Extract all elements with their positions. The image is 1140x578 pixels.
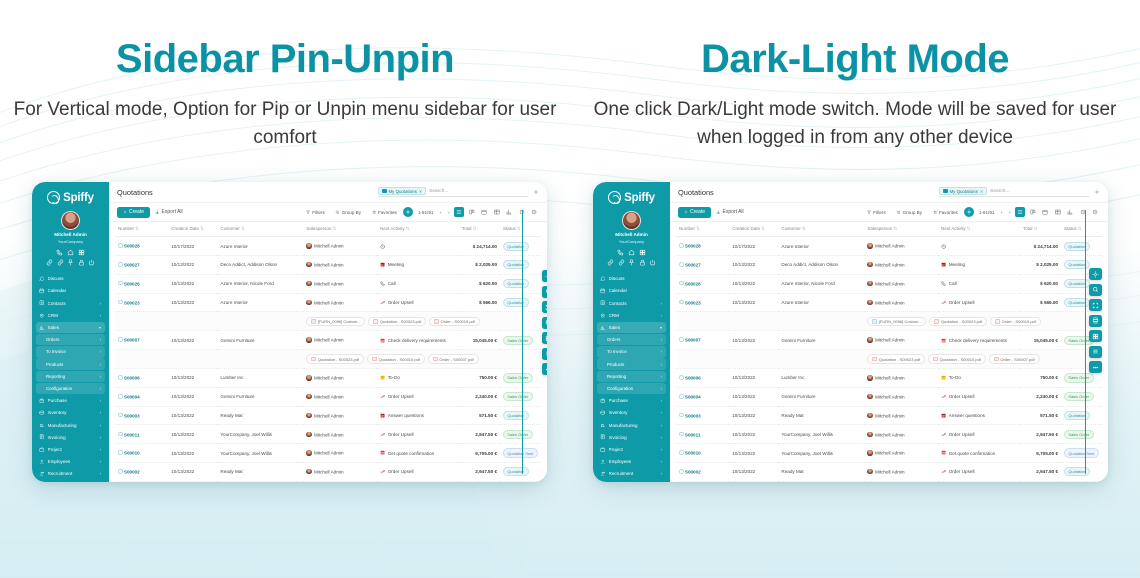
chevron-right-icon[interactable]: › xyxy=(100,386,101,391)
call-icon[interactable] xyxy=(617,249,624,256)
sidebar-item-crm[interactable]: CRM › xyxy=(36,310,105,321)
sidebar-item-contacts[interactable]: Contacts › xyxy=(597,297,666,308)
cell-total: $ 566.00 xyxy=(459,293,500,312)
row-checkbox[interactable] xyxy=(118,394,123,399)
pin-icon[interactable] xyxy=(67,259,74,266)
cell-number[interactable]: S00011 xyxy=(676,425,729,444)
sidebar-item-label: Sales xyxy=(48,325,96,330)
cell-status: Sales Order xyxy=(500,369,541,388)
cell-number[interactable]: S00023 xyxy=(676,293,729,312)
pager-next-button[interactable]: › xyxy=(1007,210,1013,215)
table-row[interactable]: S00026 10/13/2022 Azure Interior, Nicole… xyxy=(115,274,541,293)
status-badge: Quotation xyxy=(503,298,529,307)
sidebar-item-reporting[interactable]: Reporting › xyxy=(36,371,105,382)
pager-prev-button[interactable]: ‹ xyxy=(438,210,444,215)
attachment-chip[interactable]: Quotation - S00010.pdf xyxy=(367,354,425,363)
column-header-number[interactable]: Number⇅ xyxy=(115,222,168,237)
column-header-customer[interactable]: Customer⇅ xyxy=(778,222,864,237)
column-header-creation date[interactable]: Creation Date⇅ xyxy=(729,222,778,237)
chevron-right-icon[interactable]: › xyxy=(100,435,101,440)
table-row[interactable]: S00011 10/13/2022 YourCompany, Joel Will… xyxy=(676,425,1102,444)
chevron-right-icon[interactable]: › xyxy=(661,423,662,428)
chevron-right-icon[interactable]: › xyxy=(661,386,662,391)
chevron-right-icon[interactable]: › xyxy=(100,471,101,476)
sidebar-item-employees[interactable]: Employees › xyxy=(36,456,105,467)
sidebar-item-label: Project xyxy=(48,447,97,452)
print-rail-icon[interactable] xyxy=(1089,315,1102,327)
chevron-down-icon[interactable]: ▾ xyxy=(99,325,101,330)
grid-rail-icon[interactable] xyxy=(542,332,547,344)
chevron-right-icon[interactable]: › xyxy=(661,301,662,306)
row-checkbox[interactable] xyxy=(679,281,684,286)
column-header-customer[interactable]: Customer⇅ xyxy=(217,222,303,237)
chevron-right-icon[interactable]: › xyxy=(100,459,101,464)
reload-button[interactable] xyxy=(403,207,413,217)
link-alt-icon[interactable] xyxy=(618,259,625,266)
sidebar-item-recruitment[interactable]: Recruitment › xyxy=(597,468,666,479)
table-row[interactable]: S00026 10/13/2022 Azure Interior, Nicole… xyxy=(676,274,1102,293)
sidebar-item-products[interactable]: Products › xyxy=(36,358,105,369)
row-checkbox[interactable] xyxy=(679,413,684,418)
graph-view-icon[interactable] xyxy=(1065,207,1075,217)
app-logo[interactable]: Spiffy xyxy=(32,191,109,204)
home-icon[interactable] xyxy=(67,249,74,256)
table-row[interactable]: S00007 10/13/2022 Gemini Furniture Mitch… xyxy=(676,331,1102,350)
attachment-chip[interactable]: [FURN_0096] Custom... xyxy=(867,317,926,326)
cell-customer: Azure Interior, Nicole Ford xyxy=(778,274,864,293)
column-header-next activity[interactable]: Next Activity⇅ xyxy=(938,222,1020,237)
table-row[interactable]: S00007 10/13/2022 Gemini Furniture Mitch… xyxy=(115,331,541,350)
attachment-chip[interactable]: Order - S00007.pdf xyxy=(428,354,479,363)
table-row[interactable]: S00028 10/17/2022 Azure Interior Mitchel… xyxy=(676,237,1102,256)
row-checkbox[interactable] xyxy=(118,432,123,437)
cell-number[interactable]: S00010 xyxy=(115,444,168,463)
kanban-view-icon[interactable] xyxy=(1028,207,1038,217)
gear-icon[interactable] xyxy=(1094,189,1100,195)
group-by-button[interactable]: Group By xyxy=(892,207,926,217)
sidebar-item-discuss[interactable]: Discuss xyxy=(36,273,105,284)
cell-total: $ 620.00 xyxy=(459,274,500,293)
cell-number[interactable]: S00026 xyxy=(115,274,168,293)
table-row[interactable]: S00004 10/13/2022 Gemini Furniture Mitch… xyxy=(115,387,541,406)
calendar-view-icon[interactable] xyxy=(479,207,489,217)
table-row[interactable]: S00028 10/17/2022 Azure Interior Mitchel… xyxy=(115,237,541,256)
attachment-chip[interactable]: [FURN_0096] Custom... xyxy=(306,317,365,326)
attachment-chip[interactable]: Quotation - S00023.pdf xyxy=(929,317,987,326)
column-header-status[interactable]: Status⇅ xyxy=(500,222,541,237)
chevron-right-icon[interactable]: › xyxy=(661,374,662,379)
sidebar-menu: Discuss Calendar Contacts › CRM › Sales … xyxy=(32,273,109,482)
sidebar-item-label: To Invoice xyxy=(607,349,658,354)
cell-total: 15,045.00 € xyxy=(1020,331,1061,350)
cell-total: 2,947.50 € xyxy=(1020,462,1061,481)
sidebar-item-orders[interactable]: Orders › xyxy=(597,334,666,345)
row-checkbox[interactable] xyxy=(118,469,123,474)
cell-number[interactable]: S00007 xyxy=(676,331,729,350)
user-company: YourCompany xyxy=(32,239,109,245)
graph-view-icon[interactable] xyxy=(504,207,514,217)
sidebar-item-configuration[interactable]: Configuration › xyxy=(597,383,666,394)
attachment-chip[interactable]: Order - S00019.pdf xyxy=(429,317,480,326)
quotations-table-wrapper[interactable]: Number⇅Creation Date⇅Customer⇅Salesperso… xyxy=(670,222,1108,482)
column-header-next activity[interactable]: Next Activity⇅ xyxy=(377,222,459,237)
row-checkbox[interactable] xyxy=(118,300,123,305)
table-row[interactable]: S00023 10/13/2022 Azure Interior Mitchel… xyxy=(676,293,1102,312)
row-checkbox[interactable] xyxy=(679,432,684,437)
sidebar-item-sales[interactable]: Sales ▾ xyxy=(597,322,666,333)
list-rail-icon[interactable] xyxy=(542,348,547,360)
close-icon[interactable]: ✕ xyxy=(980,189,983,194)
cell-customer: Azure Interior xyxy=(217,237,303,256)
home-icon[interactable] xyxy=(628,249,635,256)
column-header-number[interactable]: Number⇅ xyxy=(676,222,729,237)
app-logo[interactable]: Spiffy xyxy=(593,191,670,204)
chevron-right-icon[interactable]: › xyxy=(661,349,662,354)
pivot-view-icon[interactable] xyxy=(1053,207,1063,217)
status-badge: Quotation Sent xyxy=(503,448,538,457)
cell-status: Quotation xyxy=(500,274,541,293)
cell-total: 2,947.50 € xyxy=(1020,425,1061,444)
app-main: Quotations My Quotations✕ Search... Crea… xyxy=(670,182,1108,482)
sidebar-item-to invoice[interactable]: To Invoice › xyxy=(36,346,105,357)
more-rail-icon[interactable] xyxy=(542,363,547,375)
list-rail-icon[interactable] xyxy=(1089,346,1102,358)
cell-customer: Gemini Furniture xyxy=(778,387,864,406)
sidebar-item-project[interactable]: Project › xyxy=(36,444,105,455)
chevron-right-icon[interactable]: › xyxy=(100,349,101,354)
list-view-icon[interactable] xyxy=(1015,207,1025,217)
attachment-chip[interactable]: Quotation - S00023.pdf xyxy=(306,354,364,363)
sidebar-item-orders[interactable]: Orders › xyxy=(36,334,105,345)
column-header-status[interactable]: Status⇅ xyxy=(1061,222,1102,237)
search-input[interactable]: My Quotations✕ Search... xyxy=(378,187,528,197)
search-facet[interactable]: My Quotations✕ xyxy=(378,187,426,195)
row-checkbox[interactable] xyxy=(679,375,684,380)
search-facet[interactable]: My Quotations✕ xyxy=(939,187,987,195)
action-bar: Create Export All Filters Group By Favor… xyxy=(109,203,547,222)
expand-rail-icon[interactable] xyxy=(542,301,547,313)
cell-total: $ 2,025.00 xyxy=(459,256,500,275)
cell-number[interactable]: S00007 xyxy=(115,331,168,350)
sidebar-item-project[interactable]: Project › xyxy=(597,444,666,455)
calendar-view-icon[interactable] xyxy=(1040,207,1050,217)
power-icon[interactable] xyxy=(649,259,656,266)
cell-next-activity: Meeting xyxy=(938,256,1020,275)
table-row[interactable]: S00002 10/13/2022 Ready Mat Mitchell Adm… xyxy=(115,462,541,481)
sidebar-item-apps[interactable]: Apps › xyxy=(597,480,666,482)
cell-next-activity: Call xyxy=(377,274,459,293)
export-all-button[interactable]: Export All xyxy=(711,207,749,218)
employees-icon xyxy=(39,459,45,465)
cell-customer: Lumber Inc xyxy=(217,369,303,388)
sidebar-item-calendar[interactable]: Calendar xyxy=(36,285,105,296)
cell-number[interactable]: S00006 xyxy=(676,369,729,388)
cell-total: 2,947.50 € xyxy=(459,425,500,444)
table-row[interactable]: S00027 10/13/2022 Deco Addict, Addison O… xyxy=(115,256,541,275)
search-rail-icon[interactable] xyxy=(542,286,547,298)
chevron-right-icon[interactable]: › xyxy=(661,313,662,318)
table-row[interactable]: S00003 10/13/2022 Ready Mat Mitchell Adm… xyxy=(115,406,541,425)
sidebar-item-to invoice[interactable]: To Invoice › xyxy=(597,346,666,357)
cell-status: Quotation xyxy=(500,237,541,256)
chevron-right-icon[interactable]: › xyxy=(661,459,662,464)
chevron-right-icon[interactable]: › xyxy=(100,337,101,342)
cell-creation-date: 10/13/2022 xyxy=(729,274,778,293)
crm-icon xyxy=(600,313,606,319)
cell-number[interactable]: S00028 xyxy=(676,237,729,256)
grid-icon[interactable] xyxy=(639,249,646,256)
salesperson-avatar xyxy=(306,262,311,267)
cell-number[interactable]: S00003 xyxy=(676,406,729,425)
sidebar-item-inventory[interactable]: Inventory › xyxy=(597,407,666,418)
cell-number[interactable]: S00027 xyxy=(115,256,168,275)
print-rail-icon[interactable] xyxy=(542,317,547,329)
cell-total: $ 2,025.00 xyxy=(1020,256,1061,275)
group-by-button[interactable]: Group By xyxy=(331,207,365,217)
column-header-creation date[interactable]: Creation Date⇅ xyxy=(168,222,217,237)
project-icon xyxy=(39,447,45,453)
column-header-salesperson[interactable]: Salesperson⇅ xyxy=(303,222,377,237)
sidebar-item-sales[interactable]: Sales ▾ xyxy=(36,322,105,333)
favorites-button[interactable]: Favorites xyxy=(929,207,962,217)
column-header-total[interactable]: Total⇅ xyxy=(1020,222,1061,237)
cell-total: $ 620.00 xyxy=(1020,274,1061,293)
column-header-total[interactable]: Total⇅ xyxy=(459,222,500,237)
cell-total: 750.00 € xyxy=(1020,369,1061,388)
attachment-row: [FURN_0096] Custom...Quotation - S00023.… xyxy=(676,312,1102,331)
settings-rail-icon[interactable] xyxy=(1089,268,1102,280)
status-badge: Sales Order xyxy=(503,430,533,439)
sidebar-item-invoicing[interactable]: Invoicing › xyxy=(597,432,666,443)
table-body: S00028 10/17/2022 Azure Interior Mitchel… xyxy=(676,237,1102,483)
chevron-right-icon[interactable]: › xyxy=(100,313,101,318)
row-checkbox[interactable] xyxy=(679,262,684,267)
chat-icon xyxy=(39,276,45,282)
cell-number[interactable]: S00023 xyxy=(115,293,168,312)
cell-salesperson: Mitchell Admin xyxy=(303,425,377,444)
refresh-icon[interactable] xyxy=(1090,207,1100,217)
table-row[interactable]: S00004 10/13/2022 Gemini Furniture Mitch… xyxy=(676,387,1102,406)
table-row[interactable]: S00023 10/13/2022 Azure Interior Mitchel… xyxy=(115,293,541,312)
call-icon[interactable] xyxy=(56,249,63,256)
row-checkbox[interactable] xyxy=(679,243,684,248)
chevron-right-icon[interactable]: › xyxy=(661,447,662,452)
sidebar-item-crm[interactable]: CRM › xyxy=(597,310,666,321)
cell-next-activity xyxy=(938,237,1020,256)
sidebar-item-label: Products xyxy=(46,362,97,367)
attachment-chip[interactable]: Quotation - S00010.pdf xyxy=(928,354,986,363)
pin-icon[interactable] xyxy=(628,259,635,266)
row-checkbox[interactable] xyxy=(679,469,684,474)
avatar[interactable] xyxy=(622,211,641,230)
chevron-right-icon[interactable]: › xyxy=(661,398,662,403)
table-row[interactable]: S00006 10/13/2022 Lumber Inc Mitchell Ad… xyxy=(115,369,541,388)
pivot-view-icon[interactable] xyxy=(492,207,502,217)
sidebar-item-configuration[interactable]: Configuration › xyxy=(36,383,105,394)
chevron-right-icon[interactable]: › xyxy=(100,362,101,367)
cell-number[interactable]: S00004 xyxy=(115,387,168,406)
row-checkbox[interactable] xyxy=(679,300,684,305)
sidebar-item-manufacturing[interactable]: Manufacturing › xyxy=(36,419,105,430)
row-checkbox[interactable] xyxy=(118,337,123,342)
row-checkbox[interactable] xyxy=(118,243,123,248)
kanban-view-icon[interactable] xyxy=(467,207,477,217)
lock-icon[interactable] xyxy=(639,259,646,266)
cell-salesperson: Mitchell Admin xyxy=(303,293,377,312)
upsell-icon xyxy=(941,432,946,437)
sidebar-item-contacts[interactable]: Contacts › xyxy=(36,297,105,308)
cell-number[interactable]: S00002 xyxy=(115,462,168,481)
activity-view-icon[interactable] xyxy=(1078,207,1088,217)
more-rail-icon[interactable] xyxy=(1089,361,1102,373)
favorites-button[interactable]: Favorites xyxy=(368,207,401,217)
row-checkbox[interactable] xyxy=(118,262,123,267)
close-icon[interactable]: ✕ xyxy=(419,189,422,194)
panel-edge-accent xyxy=(522,210,523,474)
gear-icon[interactable] xyxy=(533,189,539,195)
cell-number[interactable]: S00027 xyxy=(676,256,729,275)
table-row[interactable]: S00003 10/13/2022 Ready Mat Mitchell Adm… xyxy=(676,406,1102,425)
spiffy-logo-icon xyxy=(608,191,621,204)
cell-next-activity: Order Upsell xyxy=(938,387,1020,406)
cell-total: 571.50 € xyxy=(459,406,500,425)
table-row[interactable]: S00006 10/13/2022 Lumber Inc Mitchell Ad… xyxy=(676,369,1102,388)
pdf-file-icon xyxy=(995,319,1000,324)
cell-number[interactable]: S00006 xyxy=(115,369,168,388)
chevron-right-icon[interactable]: › xyxy=(100,374,101,379)
link-icon[interactable] xyxy=(607,259,614,266)
create-button[interactable]: Create xyxy=(117,207,150,218)
quotations-table-wrapper[interactable]: Number⇅Creation Date⇅Customer⇅Salesperso… xyxy=(109,222,547,482)
sidebar-item-apps[interactable]: Apps › xyxy=(36,480,105,482)
attachment-chip[interactable]: Order - S00007.pdf xyxy=(989,354,1040,363)
pager-prev-button[interactable]: ‹ xyxy=(999,210,1005,215)
chevron-right-icon[interactable]: › xyxy=(661,337,662,342)
chevron-right-icon[interactable]: › xyxy=(100,410,101,415)
sidebar-item-employees[interactable]: Employees › xyxy=(597,456,666,467)
chevron-right-icon[interactable]: › xyxy=(661,362,662,367)
cell-next-activity: Order Upsell xyxy=(938,462,1020,481)
quick-icons-row-1 xyxy=(32,249,109,256)
sidebar-item-inventory[interactable]: Inventory › xyxy=(36,407,105,418)
sidebar-item-calendar[interactable]: Calendar xyxy=(597,285,666,296)
sidebar-item-discuss[interactable]: Discuss xyxy=(597,273,666,284)
search-placeholder: Search... xyxy=(990,189,1009,194)
sidebar-item-reporting[interactable]: Reporting › xyxy=(597,371,666,382)
cell-customer: Deco Addict, Addison Olson xyxy=(778,256,864,275)
cell-number[interactable]: S00026 xyxy=(676,274,729,293)
purchase-icon xyxy=(39,398,45,404)
chevron-right-icon[interactable]: › xyxy=(100,423,101,428)
cell-status: Quotation xyxy=(1061,462,1102,481)
search-input[interactable]: My Quotations✕ Search... xyxy=(939,187,1089,197)
column-header-salesperson[interactable]: Salesperson⇅ xyxy=(864,222,938,237)
settings-rail-icon[interactable] xyxy=(542,270,547,282)
chevron-down-icon[interactable]: ▾ xyxy=(660,325,662,330)
cell-status: Sales Order xyxy=(500,331,541,350)
lock-icon[interactable] xyxy=(78,259,85,266)
cell-salesperson: Mitchell Admin xyxy=(864,256,938,275)
chevron-right-icon[interactable]: › xyxy=(661,410,662,415)
sidebar-item-recruitment[interactable]: Recruitment › xyxy=(36,468,105,479)
reload-button[interactable] xyxy=(964,207,974,217)
sidebar-item-manufacturing[interactable]: Manufacturing › xyxy=(597,419,666,430)
sidebar-item-invoicing[interactable]: Invoicing › xyxy=(36,432,105,443)
attachment-chip[interactable]: Order - S00019.pdf xyxy=(990,317,1041,326)
refresh-icon[interactable] xyxy=(529,207,539,217)
row-checkbox[interactable] xyxy=(679,337,684,342)
sidebar-item-products[interactable]: Products › xyxy=(597,358,666,369)
row-checkbox[interactable] xyxy=(118,375,123,380)
search-rail-icon[interactable] xyxy=(1089,284,1102,296)
row-checkbox[interactable] xyxy=(679,394,684,399)
avatar[interactable] xyxy=(61,211,80,230)
action-bar: Create Export All Filters Group By Favor… xyxy=(670,203,1108,222)
sidebar-item-purchase[interactable]: Purchase › xyxy=(597,395,666,406)
chevron-right-icon[interactable]: › xyxy=(661,435,662,440)
upsell-icon xyxy=(941,469,946,474)
expand-rail-icon[interactable] xyxy=(1089,299,1102,311)
cell-number[interactable]: S00028 xyxy=(115,237,168,256)
todo-icon xyxy=(380,375,385,380)
salesperson-avatar xyxy=(306,243,311,248)
sidebar-item-purchase[interactable]: Purchase › xyxy=(36,395,105,406)
filters-button[interactable]: Filters xyxy=(863,207,890,217)
panel-edge-accent xyxy=(1085,210,1086,474)
row-checkbox[interactable] xyxy=(118,413,123,418)
cell-number[interactable]: S00003 xyxy=(115,406,168,425)
create-button[interactable]: Create xyxy=(678,207,711,218)
cell-customer: Azure Interior xyxy=(778,237,864,256)
app-main: Quotations My Quotations✕ Search... Crea… xyxy=(109,182,547,482)
salesperson-avatar xyxy=(867,469,872,474)
cell-number[interactable]: S00004 xyxy=(676,387,729,406)
row-checkbox[interactable] xyxy=(679,450,684,455)
table-row[interactable]: S00010 10/13/2022 YourCompany, Joel Will… xyxy=(676,444,1102,463)
pager-next-button[interactable]: › xyxy=(446,210,452,215)
export-all-button[interactable]: Export All xyxy=(150,207,188,218)
chevron-right-icon[interactable]: › xyxy=(100,398,101,403)
chevron-right-icon[interactable]: › xyxy=(100,447,101,452)
grid-rail-icon[interactable] xyxy=(1089,330,1102,342)
attachment-chip[interactable]: Quotation - S00023.pdf xyxy=(368,317,426,326)
cell-creation-date: 10/13/2022 xyxy=(168,406,217,425)
table-row[interactable]: S00027 10/13/2022 Deco Addict, Addison O… xyxy=(676,256,1102,275)
link-alt-icon[interactable] xyxy=(57,259,64,266)
clock-icon xyxy=(380,244,385,249)
cell-number[interactable]: S00002 xyxy=(676,462,729,481)
checklist-icon xyxy=(380,338,385,343)
grid-icon[interactable] xyxy=(78,249,85,256)
feature-block-sidebar-pin: Sidebar Pin-Unpin For Vertical mode, Opt… xyxy=(0,38,570,152)
list-view-icon[interactable] xyxy=(454,207,464,217)
attachment-chip[interactable]: Quotation - S00023.pdf xyxy=(867,354,925,363)
power-icon[interactable] xyxy=(88,259,95,266)
table-row[interactable]: S00010 10/13/2022 YourCompany, Joel Will… xyxy=(115,444,541,463)
filters-button[interactable]: Filters xyxy=(302,207,329,217)
contacts-icon xyxy=(39,300,45,306)
link-icon[interactable] xyxy=(46,259,53,266)
row-checkbox[interactable] xyxy=(118,281,123,286)
table-row[interactable]: S00011 10/13/2022 YourCompany, Joel Will… xyxy=(115,425,541,444)
sidebar-item-label: Purchase xyxy=(48,398,97,403)
row-checkbox[interactable] xyxy=(118,450,123,455)
cell-number[interactable]: S00011 xyxy=(115,425,168,444)
chevron-right-icon[interactable]: › xyxy=(661,471,662,476)
chevron-right-icon[interactable]: › xyxy=(100,301,101,306)
cell-number[interactable]: S00010 xyxy=(676,444,729,463)
table-row[interactable]: S00002 10/13/2022 Ready Mat Mitchell Adm… xyxy=(676,462,1102,481)
